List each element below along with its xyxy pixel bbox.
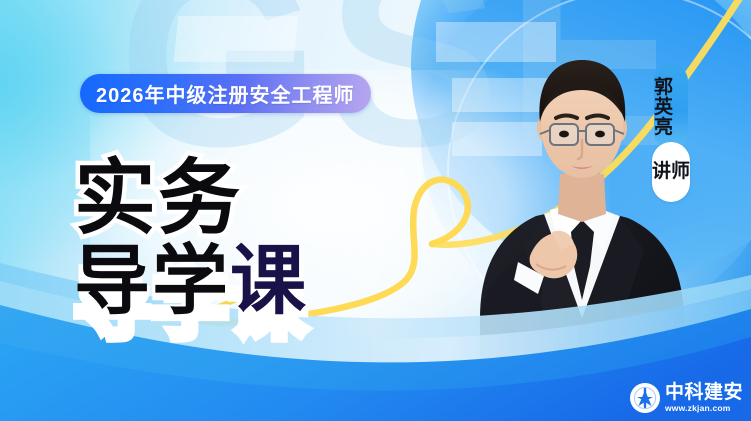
instructor-name: 郭英亮 [654, 78, 688, 138]
brand-name: 中科建安 [665, 383, 743, 402]
title-line-2: 导学课 [74, 243, 308, 319]
title-line-1: 实务 [74, 131, 242, 250]
star-arrow-icon [630, 383, 660, 413]
exam-badge: 2026年中级注册安全工程师 [80, 74, 371, 113]
instructor-name-pill: 郭英亮 [654, 64, 688, 150]
brand-logo: 中科建安 www.zkjan.com [630, 383, 743, 413]
exam-badge-label: 2026年中级注册安全工程师 [96, 79, 355, 108]
title-line-2-last-char: 课 [230, 236, 308, 325]
decor-rectangle [174, 16, 299, 62]
title-line-2-prefix: 导学 [74, 236, 230, 325]
course-banner: GSE [0, 0, 751, 421]
brand-logo-text: 中科建安 www.zkjan.com [665, 383, 743, 413]
brand-url: www.zkjan.com [665, 404, 731, 413]
instructor-role-pill: 讲师 [652, 142, 690, 202]
instructor-role: 讲师 [652, 162, 690, 182]
